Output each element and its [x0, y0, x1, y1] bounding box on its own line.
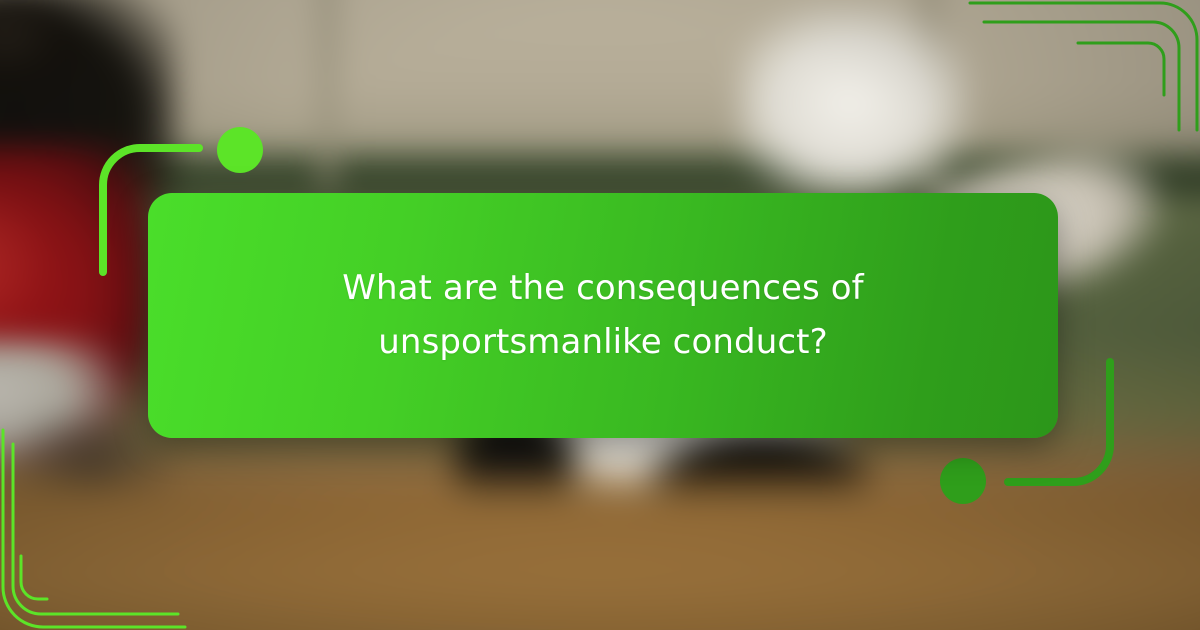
question-card: What are the consequences of unsportsman…: [148, 193, 1058, 438]
question-text: What are the consequences of unsportsman…: [323, 262, 883, 369]
screenshot-stage: What are the consequences of unsportsman…: [0, 0, 1200, 630]
